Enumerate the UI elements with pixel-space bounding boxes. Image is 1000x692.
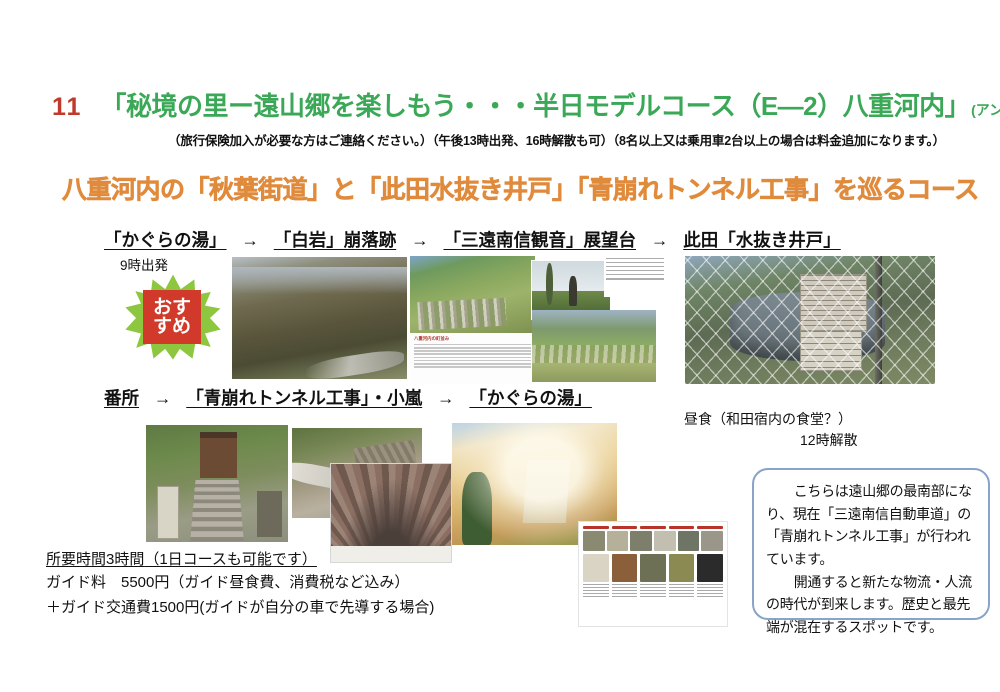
guide-fee: ガイド料 5500円 <box>46 574 169 591</box>
route1-stop-3: 「三遠南信観音」展望台 <box>444 230 637 250</box>
price-line-1: 所要時間3時間（1日コースも可能です） <box>46 548 434 571</box>
arrow-icon: → <box>231 230 269 250</box>
photo-detail-wire-mesh <box>685 256 935 384</box>
route1-stop-1: 「かぐらの湯」 <box>104 230 227 250</box>
arrow-icon: → <box>144 388 182 408</box>
arrow-icon: → <box>427 388 465 408</box>
duration-text: 所要時間3時間 <box>46 551 144 568</box>
route-row-1: 「かぐらの湯」 → 「白岩」崩落跡 → 「三遠南信観音」展望台 → 此田「水抜き… <box>104 227 841 252</box>
info-callout: こちらは遠山郷の最南部になり、現在「三遠南信自動車道」の「青崩れトンネル工事」が… <box>752 468 990 620</box>
mineral-chart-headers <box>579 522 727 531</box>
arrow-icon: → <box>401 230 439 250</box>
title-number: 11 <box>52 93 82 122</box>
end-time-label: 12時解散 <box>800 430 858 450</box>
start-time-label: 9時出発 <box>120 254 168 274</box>
photo-detail-gate <box>200 432 237 478</box>
photo-detail-signpost <box>157 486 179 539</box>
mineral-chart-captions <box>579 582 727 601</box>
recommended-badge: おす すめ <box>123 272 223 362</box>
photo-village-aerial: 八重河内の町並み <box>410 256 535 384</box>
arrow-icon: → <box>641 230 679 250</box>
mineral-chart-row-2 <box>579 551 727 582</box>
guide-transport-fee: ＋ガイド交通費1500円(ガイドが自分の車で先導する場合) <box>46 599 434 616</box>
mineral-chart-row-1 <box>579 531 727 551</box>
guide-fee-note: （ガイド昼食費、消費税など込み） <box>169 575 409 591</box>
photo-kannon-note <box>604 255 666 297</box>
document-title: 11 「秘境の里ー遠山郷を楽しもう・・・半日モデルコース（E―2）八重河内」 (… <box>52 86 1000 123</box>
price-info: 所要時間3時間（1日コースも可能です） ガイド料 5500円（ガイド昼食費、消費… <box>46 548 434 619</box>
callout-paragraph-1: こちらは遠山郷の最南部になり、現在「三遠南信自動車道」の「青崩れトンネル工事」が… <box>766 480 976 571</box>
photo-terrace-view <box>532 310 656 382</box>
photo-detail-statue <box>569 276 577 306</box>
badge-line-1: おす <box>153 298 191 317</box>
title-superscript-note: (アンバマイカ館起点) <box>971 100 1000 120</box>
photo-detail-terrace-band <box>532 345 656 364</box>
photo-village-caption: 八重河内の町並み <box>410 333 535 384</box>
price-line-2: ガイド料 5500円（ガイド昼食費、消費税など込み） <box>46 571 434 595</box>
lunch-label: 昼食（和田宿内の食堂？） <box>684 409 852 429</box>
route1-stop-4: 此田「水抜き井戸」 <box>683 230 841 250</box>
badge-line-2: すめ <box>153 317 191 336</box>
photo-detail-houses <box>417 297 506 330</box>
title-main-text: 「秘境の里ー遠山郷を楽しもう・・・半日モデルコース（E―2）八重河内」 <box>100 86 970 123</box>
route-row-2: 番所 → 「青崩れトンネル工事」・小嵐 → 「かぐらの湯」 <box>104 385 592 410</box>
title-subnote: （旅行保険加入が必要な方はご連絡ください。）（午後13時出発、16時解散も可）（… <box>168 130 945 149</box>
callout-paragraph-2: 開通すると新たな物流・人流の時代が到来します。歴史と最先端が混在するスポットです… <box>766 571 976 639</box>
document-page: 11 「秘境の里ー遠山郷を楽しもう・・・半日モデルコース（E―2）八重河内」 (… <box>0 0 1000 692</box>
photo-detail-ridge <box>232 267 407 294</box>
route2-stop-1: 番所 <box>104 388 139 408</box>
route2-stop-3: 「かぐらの湯」 <box>469 388 592 408</box>
photo-detail-stone-steps <box>190 480 244 542</box>
photo-mineral-chart <box>578 521 728 627</box>
photo-shirayawa-collapse <box>232 257 407 379</box>
route2-stop-2: 「青崩れトンネル工事」・小嵐 <box>186 388 422 408</box>
photo-village-caption-title: 八重河内の町並み <box>414 336 531 342</box>
price-line-3: ＋ガイド交通費1500円(ガイドが自分の車で先導する場合) <box>46 596 434 619</box>
photo-banshou-gate <box>146 425 288 542</box>
course-headline: 八重河内の「秋葉街道」と「此田水抜き井戸」「青崩れトンネル工事」を巡るコース <box>62 170 979 206</box>
photo-water-well <box>685 256 935 384</box>
recommended-badge-box: おす すめ <box>143 290 201 344</box>
photo-detail-tree <box>546 263 553 305</box>
photo-detail-road <box>306 347 404 379</box>
photo-detail-shed <box>257 491 283 538</box>
route1-stop-2: 「白岩」崩落跡 <box>274 230 397 250</box>
duration-note: （1日コースも可能です） <box>144 551 317 568</box>
